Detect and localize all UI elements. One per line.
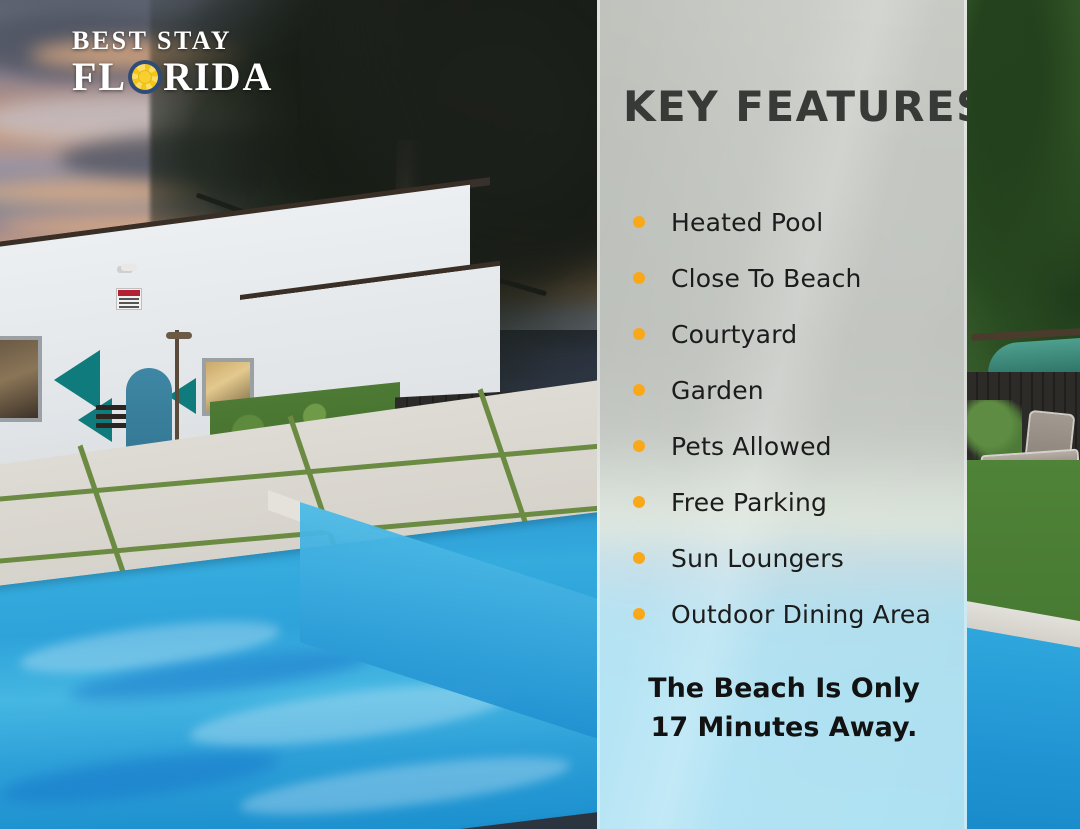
bullet-icon <box>633 384 645 396</box>
bullet-icon <box>633 216 645 228</box>
feature-item: Garden <box>633 377 945 403</box>
poster-canvas: BEST STAY FL RIDA <box>0 0 1080 829</box>
feature-label: Pets Allowed <box>671 432 832 461</box>
bullet-icon <box>633 272 645 284</box>
water-ripple <box>240 746 570 827</box>
bullet-icon <box>633 328 645 340</box>
feature-label: Free Parking <box>671 488 827 517</box>
feature-item: Outdoor Dining Area <box>633 601 945 627</box>
swimming-pool-water <box>967 626 1080 829</box>
brand-line-2-prefix: FL <box>72 56 127 98</box>
panel-content: KEY FEATURES Heated Pool Close To Beach … <box>597 0 967 829</box>
feature-item: Courtyard <box>633 321 945 347</box>
brand-line-2-suffix: RIDA <box>163 56 273 98</box>
brand-logo: BEST STAY FL RIDA <box>72 28 273 98</box>
feature-label: Outdoor Dining Area <box>671 600 931 629</box>
security-camera <box>121 264 137 271</box>
feature-label: Sun Loungers <box>671 544 844 573</box>
bullet-icon <box>633 440 645 452</box>
feature-label: Garden <box>671 376 764 405</box>
feature-item: Free Parking <box>633 489 945 515</box>
window <box>0 336 42 422</box>
warning-sign <box>116 288 142 310</box>
brand-line-2: FL RIDA <box>72 56 273 98</box>
feature-label: Close To Beach <box>671 264 862 293</box>
features-list: Heated Pool Close To Beach Courtyard Gar… <box>623 131 945 627</box>
feature-label: Courtyard <box>671 320 797 349</box>
bullet-icon <box>633 496 645 508</box>
panel-title: KEY FEATURES <box>623 0 945 131</box>
teal-triangle-decor <box>168 378 196 414</box>
feature-item: Sun Loungers <box>633 545 945 571</box>
feature-item: Pets Allowed <box>633 433 945 459</box>
feature-item: Heated Pool <box>633 209 945 235</box>
right-photo-garden <box>967 0 1080 829</box>
left-photo-villa-exterior: BEST STAY FL RIDA <box>0 0 600 829</box>
brand-line-1: BEST STAY <box>72 28 273 54</box>
outdoor-shower-head <box>166 332 192 339</box>
key-features-panel: KEY FEATURES Heated Pool Close To Beach … <box>597 0 967 829</box>
bullet-icon <box>633 552 645 564</box>
feature-item: Close To Beach <box>633 265 945 291</box>
sun-icon <box>128 60 162 94</box>
beach-distance-note: The Beach Is Only 17 Minutes Away. <box>623 669 945 747</box>
bullet-icon <box>633 608 645 620</box>
feature-label: Heated Pool <box>671 208 823 237</box>
water-ripple <box>0 741 280 813</box>
